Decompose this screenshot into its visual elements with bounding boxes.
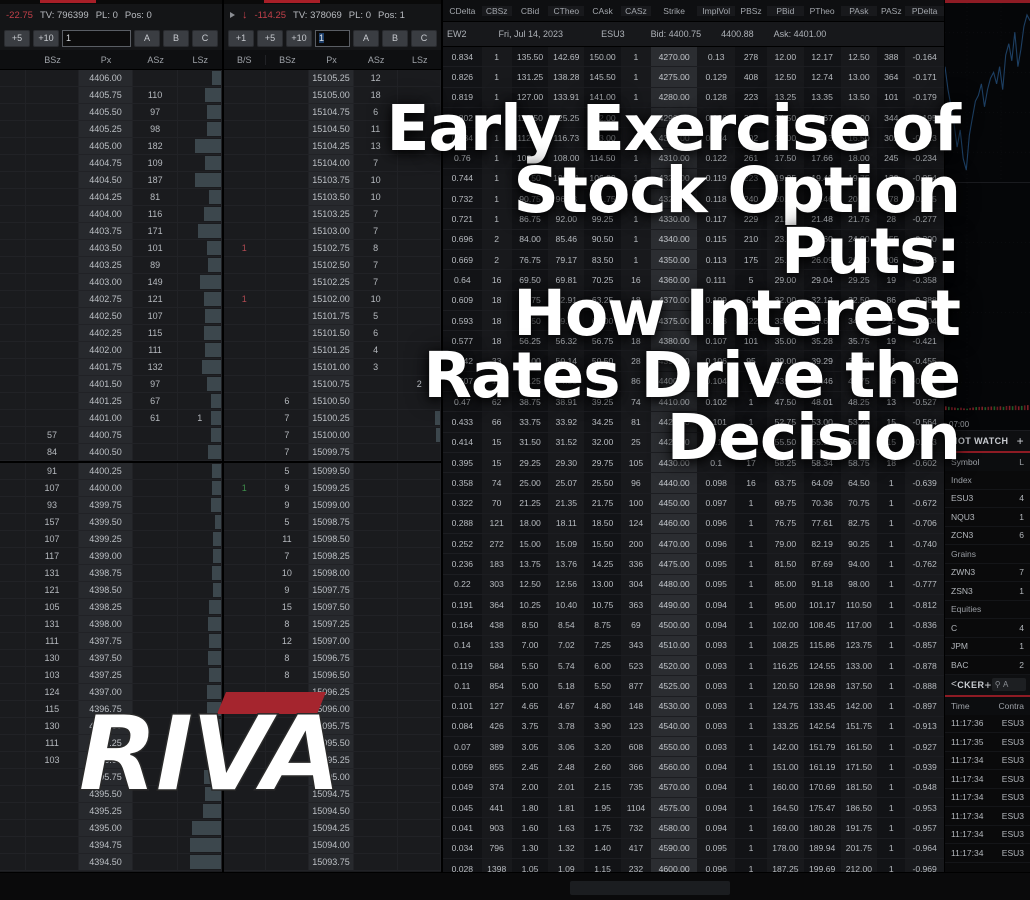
- ladder2-row[interactable]: 15102.507: [224, 257, 441, 274]
- chain-cell-ctheo[interactable]: 12.56: [548, 575, 584, 594]
- ladder1-cell-px[interactable]: 4404.00: [79, 206, 133, 222]
- ladder1-cell-gutter[interactable]: [0, 616, 26, 632]
- ladder1-cell-gutter[interactable]: [0, 342, 26, 358]
- chain-cell-pbsz[interactable]: 1: [735, 737, 767, 756]
- chain-cell-pdelta[interactable]: -0.254: [905, 169, 944, 188]
- chain-cell-ptheo[interactable]: 19.49: [804, 169, 841, 188]
- ladder1-row[interactable]: 4403.00149: [0, 274, 222, 291]
- chain-cell-ptheo[interactable]: 55.58: [804, 433, 841, 452]
- ladder1-row[interactable]: 4405.5097: [0, 104, 222, 121]
- ladder2-cell-lsz[interactable]: [398, 769, 441, 785]
- chain-row[interactable]: 0.073893.053.063.206084550.000.0931142.0…: [443, 737, 944, 757]
- chain-cell-implvol[interactable]: 0.093: [697, 636, 735, 655]
- ladder2-cell-lsz[interactable]: [398, 172, 441, 188]
- chain-cell-cdelta[interactable]: 0.119: [443, 656, 482, 675]
- ladder1-cell-asz[interactable]: [133, 444, 179, 460]
- ladder2-cell-bs[interactable]: [224, 104, 266, 120]
- ladder2-cell-bs[interactable]: [224, 138, 266, 154]
- ladder2-cell-lsz[interactable]: [398, 291, 441, 307]
- chain-cell-cbid[interactable]: 118.50: [512, 108, 549, 127]
- chain-cell-cask[interactable]: 29.75: [584, 453, 621, 472]
- ladder2-header-lsz[interactable]: LSz: [398, 55, 441, 65]
- chain-cell-cbsz[interactable]: 1: [482, 88, 512, 107]
- chain-cell-implvol[interactable]: 0.096: [697, 534, 735, 553]
- chain-cell-pask[interactable]: 70.75: [841, 494, 878, 513]
- ladder1-header-bsz[interactable]: BSz: [26, 55, 80, 65]
- ladder1-cell-gutter[interactable]: [0, 718, 26, 734]
- time-sales-row[interactable]: 11:17:36ESU3: [945, 715, 1030, 734]
- chain-cell-pbsz[interactable]: 408: [735, 67, 767, 86]
- chain-cell-cask[interactable]: 56.75: [584, 331, 621, 350]
- ladder2-cell-px[interactable]: 15095.00: [309, 769, 354, 785]
- ladder2-cell-px[interactable]: 15095.50: [309, 735, 354, 751]
- chain-cell-pdelta[interactable]: -0.491: [905, 372, 944, 391]
- chain-cell-pasz[interactable]: 1: [877, 595, 905, 614]
- chain-cell-pdelta[interactable]: -0.583: [905, 433, 944, 452]
- chain-header-cdelta[interactable]: CDelta: [443, 6, 482, 16]
- ladder1-cell-gutter[interactable]: [0, 70, 26, 86]
- chain-cell-strike[interactable]: 4570.00: [651, 778, 697, 797]
- chain-cell-pasz[interactable]: 86: [877, 291, 905, 310]
- chain-cell-strike[interactable]: 4360.00: [651, 270, 697, 289]
- ladder2-row[interactable]: 715100.00: [224, 427, 441, 444]
- chain-cell-pdelta[interactable]: -0.888: [905, 676, 944, 695]
- ladder1-cell-lsz[interactable]: [178, 803, 222, 819]
- ladder1-cell-gutter[interactable]: [0, 223, 26, 239]
- ladder2-cell-bs[interactable]: 1: [224, 240, 266, 256]
- ladder1-row[interactable]: 4395.25: [0, 803, 222, 820]
- ladder1-cell-px[interactable]: 4395.50: [79, 786, 133, 802]
- chain-cell-implvol[interactable]: 0.1: [697, 453, 735, 472]
- ladder1-cell-px[interactable]: 4402.00: [79, 342, 133, 358]
- chain-cell-casz[interactable]: 69: [621, 615, 651, 634]
- ladder2-cell-bs[interactable]: [224, 786, 266, 802]
- chain-cell-implvol[interactable]: 0.1: [697, 433, 735, 452]
- ladder2-row[interactable]: 1515097.50: [224, 599, 441, 616]
- ladder1-cell-bsz[interactable]: 105: [26, 599, 80, 615]
- ladder2-row[interactable]: 115102.758: [224, 240, 441, 257]
- chain-row[interactable]: 0.28812118.0018.1118.501244460.000.09617…: [443, 514, 944, 534]
- ladder1-cell-asz[interactable]: 132: [133, 359, 179, 375]
- chain-row[interactable]: 0.3227021.2521.3521.751004450.000.097169…: [443, 494, 944, 514]
- ladder1-cell-asz[interactable]: [133, 684, 179, 700]
- ladder2-cell-px[interactable]: 15100.25: [309, 410, 354, 426]
- ladder1-cell-gutter[interactable]: [0, 803, 26, 819]
- chain-cell-pasz[interactable]: 1: [877, 615, 905, 634]
- chain-cell-strike[interactable]: 4580.00: [651, 818, 697, 837]
- chain-cell-cask[interactable]: 99.25: [584, 209, 621, 228]
- chain-cell-casz[interactable]: 1: [621, 189, 651, 208]
- chain-cell-cask[interactable]: 150.00: [584, 47, 621, 66]
- ladder1-row[interactable]: 4404.75109: [0, 155, 222, 172]
- chain-cell-cdelta[interactable]: 0.819: [443, 88, 482, 107]
- ladder2-cell-px[interactable]: 15098.00: [309, 565, 354, 581]
- chain-cell-pdelta[interactable]: -0.897: [905, 697, 944, 716]
- ladder2-cell-bsz[interactable]: [266, 172, 310, 188]
- ladder2-cell-px[interactable]: 15101.75: [309, 308, 354, 324]
- chain-cell-cdelta[interactable]: 0.059: [443, 757, 482, 776]
- chain-cell-pask[interactable]: 137.50: [841, 676, 878, 695]
- chain-cell-ptheo[interactable]: 23.60: [804, 230, 841, 249]
- chain-cell-cdelta[interactable]: 0.084: [443, 717, 482, 736]
- chain-cell-implvol[interactable]: 0.097: [697, 494, 735, 513]
- ladder1-cell-px[interactable]: 4400.00: [79, 480, 133, 496]
- chain-cell-pasz[interactable]: 155: [877, 230, 905, 249]
- chain-row[interactable]: 0.8261131.25138.28145.5014275.000.129408…: [443, 67, 944, 87]
- chain-cell-cask[interactable]: 13.00: [584, 575, 621, 594]
- chain-cell-ctheo[interactable]: 25.07: [548, 473, 584, 492]
- chain-cell-cbsz[interactable]: 854: [482, 676, 512, 695]
- ladder2-cell-lsz[interactable]: [398, 104, 441, 120]
- ladder1-row[interactable]: 1074400.00: [0, 480, 222, 497]
- ladder2-cell-lsz[interactable]: [398, 480, 441, 496]
- ladder1-cell-lsz[interactable]: [178, 854, 222, 870]
- ladder1-cell-bsz[interactable]: [26, 104, 80, 120]
- chain-row[interactable]: 0.4141531.5031.5232.00254425.000.1155.50…: [443, 433, 944, 453]
- ladder2-cell-bs[interactable]: [224, 718, 266, 734]
- chain-cell-pbid[interactable]: 178.00: [767, 839, 804, 858]
- chain-cell-pask[interactable]: 35.75: [841, 331, 878, 350]
- chain-cell-pbid[interactable]: 151.00: [767, 757, 804, 776]
- chain-cell-pdelta[interactable]: -0.358: [905, 270, 944, 289]
- ladder2-row[interactable]: 15094.25: [224, 820, 441, 837]
- chain-cell-cbid[interactable]: 86.75: [512, 209, 549, 228]
- ladder1-cell-asz[interactable]: [133, 718, 179, 734]
- chain-cell-pasz[interactable]: 12: [877, 311, 905, 330]
- ladder2-cell-asz[interactable]: 10: [354, 189, 399, 205]
- chain-cell-cbsz[interactable]: 1: [482, 67, 512, 86]
- chain-cell-implvol[interactable]: 0.108: [697, 311, 735, 330]
- chain-cell-ptheo[interactable]: 53.00: [804, 412, 841, 431]
- chain-cell-casz[interactable]: 1: [621, 47, 651, 66]
- ladder2-cell-bs[interactable]: 1: [224, 291, 266, 307]
- ladder2-row[interactable]: 15101.506: [224, 325, 441, 342]
- ladder1-cell-px[interactable]: 4395.00: [79, 820, 133, 836]
- ladder2-row[interactable]: 715099.75: [224, 444, 441, 461]
- chain-cell-pasz[interactable]: 1: [877, 798, 905, 817]
- ladder2-row[interactable]: 15102.257: [224, 274, 441, 291]
- ladder1-cell-px[interactable]: 4397.25: [79, 667, 133, 683]
- chain-cell-pask[interactable]: 12.50: [841, 47, 878, 66]
- chain-cell-cdelta[interactable]: 0.358: [443, 473, 482, 492]
- ladder2-cell-px[interactable]: 15096.00: [309, 701, 354, 717]
- chain-cell-ctheo[interactable]: 62.91: [548, 291, 584, 310]
- chain-cell-implvol[interactable]: 0.119: [697, 169, 735, 188]
- ladder2-cell-lsz[interactable]: [398, 342, 441, 358]
- ladder1-cell-asz[interactable]: 101: [133, 240, 179, 256]
- chain-cell-cbsz[interactable]: 17: [482, 372, 512, 391]
- ladder2-cell-bs[interactable]: [224, 820, 266, 836]
- chain-cell-pbid[interactable]: 160.00: [767, 778, 804, 797]
- ladder2-cell-asz[interactable]: 12: [354, 70, 399, 86]
- chain-cell-implvol[interactable]: 0.128: [697, 88, 735, 107]
- chain-cell-cdelta[interactable]: 0.414: [443, 433, 482, 452]
- chain-cell-cbid[interactable]: 12.50: [512, 575, 549, 594]
- chain-cell-pbsz[interactable]: 1: [735, 392, 767, 411]
- chain-cell-pbsz[interactable]: 1: [735, 839, 767, 858]
- ladder1-cell-px[interactable]: 4399.75: [79, 497, 133, 513]
- chain-cell-implvol[interactable]: 0.102: [697, 392, 735, 411]
- watch-group-row[interactable]: Index: [945, 471, 1030, 490]
- ladder2-cell-px[interactable]: 15096.50: [309, 667, 354, 683]
- ladder1-cell-lsz[interactable]: 1: [178, 410, 222, 426]
- chain-cell-pask[interactable]: 201.75: [841, 839, 878, 858]
- chain-cell-cbsz[interactable]: 1: [482, 128, 512, 147]
- chain-cell-casz[interactable]: 417: [621, 839, 651, 858]
- ladder1-cell-gutter[interactable]: [0, 291, 26, 307]
- chain-cell-pbsz[interactable]: 5: [735, 270, 767, 289]
- chain-row[interactable]: 0.4336633.7533.9234.25814420.000.101152.…: [443, 412, 944, 432]
- chain-cell-pasz[interactable]: 122: [877, 169, 905, 188]
- ladder1-row[interactable]: 1244397.00: [0, 684, 222, 701]
- ladder1-cell-bsz[interactable]: [26, 206, 80, 222]
- chain-cell-pask[interactable]: 110.50: [841, 595, 878, 614]
- chain-cell-cdelta[interactable]: 0.732: [443, 189, 482, 208]
- ladder1-cell-px[interactable]: 4403.25: [79, 257, 133, 273]
- chain-cell-pbsz[interactable]: 223: [735, 169, 767, 188]
- chain-cell-pasz[interactable]: 1: [877, 554, 905, 573]
- chain-cell-casz[interactable]: 25: [621, 433, 651, 452]
- chain-cell-cbsz[interactable]: 1: [482, 209, 512, 228]
- chain-cell-pasz[interactable]: 1: [877, 697, 905, 716]
- ladder1-row[interactable]: 1114397.75: [0, 633, 222, 650]
- ladder2-row[interactable]: 515098.75: [224, 514, 441, 531]
- ladder1-cell-bsz[interactable]: 130: [26, 718, 80, 734]
- chain-cell-ptheo[interactable]: 108.45: [804, 615, 841, 634]
- chain-row[interactable]: 0.0419031.601.631.757324580.000.0941169.…: [443, 818, 944, 838]
- ladder2-cell-bsz[interactable]: [266, 291, 310, 307]
- ladder1-row[interactable]: 1314398.75: [0, 565, 222, 582]
- ladder1-cell-bsz[interactable]: [26, 70, 80, 86]
- ladder1-row[interactable]: 844400.50: [0, 444, 222, 461]
- chain-cell-pask[interactable]: 24.00: [841, 230, 878, 249]
- ladder2-cell-asz[interactable]: 7: [354, 206, 399, 222]
- ladder2-cell-bsz[interactable]: [266, 701, 310, 717]
- ladder2-cell-bs[interactable]: [224, 616, 266, 632]
- chain-cell-pasz[interactable]: 364: [877, 67, 905, 86]
- ladder1-cell-asz[interactable]: [133, 633, 179, 649]
- ladder2-cell-asz[interactable]: 10: [354, 291, 399, 307]
- chain-cell-pdelta[interactable]: -0.388: [905, 291, 944, 310]
- chain-cell-strike[interactable]: 4390.00: [651, 351, 697, 370]
- chain-cell-strike[interactable]: 4480.00: [651, 575, 697, 594]
- chain-cell-pbid[interactable]: 120.50: [767, 676, 804, 695]
- chain-cell-cbid[interactable]: 131.25: [512, 67, 549, 86]
- chain-cell-ctheo[interactable]: 56.32: [548, 331, 584, 350]
- chain-cell-pasz[interactable]: 1: [877, 494, 905, 513]
- chain-row[interactable]: 0.1011274.654.674.801484530.000.0931124.…: [443, 697, 944, 717]
- chain-cell-strike[interactable]: 4475.00: [651, 554, 697, 573]
- ladder2-cell-lsz[interactable]: [398, 786, 441, 802]
- time-sales-row[interactable]: 11:17:34ESU3: [945, 789, 1030, 808]
- ladder1-cell-lsz[interactable]: [178, 325, 222, 341]
- ladder1-cell-gutter[interactable]: [0, 514, 26, 530]
- ladder2-cell-lsz[interactable]: [398, 565, 441, 581]
- chain-cell-pbid[interactable]: 124.75: [767, 697, 804, 716]
- ladder1-cell-lsz[interactable]: [178, 104, 222, 120]
- ladder1-cell-asz[interactable]: 81: [133, 189, 179, 205]
- chain-cell-casz[interactable]: 200: [621, 534, 651, 553]
- chain-cell-cbid[interactable]: 5.50: [512, 656, 549, 675]
- ladder1-row[interactable]: 1114396.25: [0, 735, 222, 752]
- chain-cell-cbsz[interactable]: 374: [482, 778, 512, 797]
- watch-symbol-row[interactable]: JPM1: [945, 638, 1030, 657]
- ladder1-cell-gutter[interactable]: [0, 480, 26, 496]
- chain-cell-strike[interactable]: 4540.00: [651, 717, 697, 736]
- chain-header-cbsz[interactable]: CBSz: [482, 6, 512, 16]
- chain-cell-ctheo[interactable]: 18.11: [548, 514, 584, 533]
- chain-cell-pdelta[interactable]: -0.878: [905, 656, 944, 675]
- chain-cell-ctheo[interactable]: 69.81: [548, 270, 584, 289]
- chain-cell-cdelta[interactable]: 0.11: [443, 676, 482, 695]
- chain-cell-pasz[interactable]: 344: [877, 108, 905, 127]
- chain-cell-pasz[interactable]: 101: [877, 88, 905, 107]
- ladder2-cell-asz[interactable]: [354, 769, 399, 785]
- chain-cell-casz[interactable]: 74: [621, 392, 651, 411]
- chain-cell-cbid[interactable]: 102.50: [512, 148, 549, 167]
- ladder2-row[interactable]: 815096.50: [224, 667, 441, 684]
- chain-header-pask[interactable]: PAsk: [841, 6, 878, 16]
- ladder1-cell-gutter[interactable]: [0, 599, 26, 615]
- chain-cell-cbid[interactable]: 4.65: [512, 697, 549, 716]
- chain-cell-pasz[interactable]: 15: [877, 412, 905, 431]
- ladder1-cell-asz[interactable]: [133, 427, 179, 443]
- chain-cell-ptheo[interactable]: 82.19: [804, 534, 841, 553]
- chain-cell-cbid[interactable]: 84.00: [512, 230, 549, 249]
- ladder1-cell-asz[interactable]: [133, 514, 179, 530]
- ladder2-cell-asz[interactable]: [354, 463, 399, 479]
- chain-cell-ctheo[interactable]: 10.40: [548, 595, 584, 614]
- ladder1-cell-px[interactable]: 4399.50: [79, 514, 133, 530]
- ladder1-preset-b-button[interactable]: B: [163, 30, 189, 47]
- chain-cell-pbid[interactable]: 52.75: [767, 412, 804, 431]
- ladder2-cell-bsz[interactable]: [266, 837, 310, 853]
- chain-cell-pbid[interactable]: 19.25: [767, 169, 804, 188]
- chain-cell-pbsz[interactable]: 1: [735, 494, 767, 513]
- ladder1-rows[interactable]: 4406.004405.751104405.50974405.25984405.…: [0, 70, 222, 872]
- ladder1-cell-bsz[interactable]: [26, 342, 80, 358]
- chain-cell-pdelta[interactable]: -0.953: [905, 798, 944, 817]
- ladder2-cell-px[interactable]: 15096.75: [309, 650, 354, 666]
- ladder2-cell-bsz[interactable]: 9: [266, 582, 310, 598]
- chain-cell-cbsz[interactable]: 70: [482, 494, 512, 513]
- chain-cell-pasz[interactable]: 302: [877, 128, 905, 147]
- ladder2-cell-asz[interactable]: [354, 410, 399, 426]
- chain-cell-cask[interactable]: 21.75: [584, 494, 621, 513]
- ladder1-cell-gutter[interactable]: [0, 548, 26, 564]
- chain-cell-pask[interactable]: 98.00: [841, 575, 878, 594]
- chain-cell-pask[interactable]: 43.75: [841, 372, 878, 391]
- chain-cell-pbsz[interactable]: 302: [735, 128, 767, 147]
- ladder1-header-lsz[interactable]: LSz: [178, 55, 222, 65]
- chain-cell-implvol[interactable]: 0.124: [697, 128, 735, 147]
- ladder1-cell-gutter[interactable]: [0, 274, 26, 290]
- chain-cell-pdelta[interactable]: -0.836: [905, 615, 944, 634]
- watch-symbol-row[interactable]: ZCN36: [945, 527, 1030, 546]
- chain-cell-cbsz[interactable]: 16: [482, 270, 512, 289]
- ladder1-cell-lsz[interactable]: [178, 718, 222, 734]
- chain-cell-cdelta[interactable]: 0.07: [443, 737, 482, 756]
- ladder1-cell-bsz[interactable]: [26, 376, 80, 392]
- chain-cell-pask[interactable]: 34.00: [841, 311, 878, 330]
- ladder1-cell-lsz[interactable]: [178, 444, 222, 460]
- chain-cell-pbid[interactable]: 13.25: [767, 88, 804, 107]
- chain-cell-ctheo[interactable]: 125.25: [548, 108, 584, 127]
- ladder1-row[interactable]: 1174399.00: [0, 548, 222, 565]
- chain-cell-strike[interactable]: 4520.00: [651, 656, 697, 675]
- chain-row[interactable]: 0.5931859.5059.5760.00184375.000.1081223…: [443, 311, 944, 331]
- chain-cell-cbsz[interactable]: 18: [482, 291, 512, 310]
- ladder2-cell-bsz[interactable]: [266, 138, 310, 154]
- ladder1-cell-asz[interactable]: [133, 837, 179, 853]
- chain-cell-ptheo[interactable]: 16.13: [804, 128, 841, 147]
- chain-cell-cbid[interactable]: 2.00: [512, 778, 549, 797]
- ladder1-row[interactable]: 1034396.00: [0, 752, 222, 769]
- ladder1-cell-gutter[interactable]: [0, 531, 26, 547]
- chain-cell-ptheo[interactable]: 161.19: [804, 757, 841, 776]
- chain-cell-cask[interactable]: 44.75: [584, 372, 621, 391]
- ladder2-cell-asz[interactable]: [354, 616, 399, 632]
- ladder1-row[interactable]: 934399.75: [0, 497, 222, 514]
- ladder1-cell-lsz[interactable]: [178, 667, 222, 683]
- ladder1-cell-lsz[interactable]: [178, 616, 222, 632]
- ladder1-cell-gutter[interactable]: [0, 206, 26, 222]
- chain-cell-casz[interactable]: 1: [621, 148, 651, 167]
- chain-cell-casz[interactable]: 96: [621, 473, 651, 492]
- ladder2-row[interactable]: 815096.75: [224, 650, 441, 667]
- ladder1-cell-gutter[interactable]: [0, 87, 26, 103]
- chain-cell-pdelta[interactable]: -0.455: [905, 351, 944, 370]
- chain-cell-cask[interactable]: 3.90: [584, 717, 621, 736]
- price-chart-upper[interactable]: [945, 3, 1030, 183]
- ladder1-row[interactable]: 1054398.25: [0, 599, 222, 616]
- chain-cell-pbid[interactable]: 23.25: [767, 230, 804, 249]
- chain-cell-cbid[interactable]: 8.50: [512, 615, 549, 634]
- ladder2-cell-lsz[interactable]: [398, 206, 441, 222]
- hot-watch-rows[interactable]: IndexESU34NQU31ZCN36GrainsZWN37ZSN31Equi…: [945, 471, 1030, 675]
- chain-cell-casz[interactable]: 124: [621, 514, 651, 533]
- chain-cell-pasz[interactable]: 206: [877, 250, 905, 269]
- ladder1-row[interactable]: 4394.50: [0, 854, 222, 871]
- chain-row[interactable]: 0.23618313.7513.7614.253364475.000.09518…: [443, 554, 944, 574]
- ladder1-cell-lsz[interactable]: [178, 87, 222, 103]
- ladder1-cell-bsz[interactable]: [26, 257, 80, 273]
- chain-cell-cdelta[interactable]: 0.041: [443, 818, 482, 837]
- ladder1-preset-c-button[interactable]: C: [192, 30, 218, 47]
- ladder2-cell-asz[interactable]: [354, 565, 399, 581]
- ladder2-cell-px[interactable]: 15096.25: [309, 684, 354, 700]
- ladder1-row[interactable]: 4394.75: [0, 837, 222, 854]
- ladder1-cell-asz[interactable]: 98: [133, 121, 179, 137]
- chain-cell-cbsz[interactable]: 389: [482, 737, 512, 756]
- chain-cell-pbid[interactable]: 81.50: [767, 554, 804, 573]
- chain-cell-ptheo[interactable]: 32.12: [804, 291, 841, 310]
- chain-cell-pbid[interactable]: 55.50: [767, 433, 804, 452]
- chain-cell-ctheo[interactable]: 50.14: [548, 351, 584, 370]
- chain-cell-pbid[interactable]: 12.00: [767, 47, 804, 66]
- ladder1-cell-px[interactable]: 4404.25: [79, 189, 133, 205]
- ladder2-cell-bsz[interactable]: [266, 718, 310, 734]
- chain-cell-cbid[interactable]: 3.05: [512, 737, 549, 756]
- chain-cell-pbid[interactable]: 116.25: [767, 656, 804, 675]
- ladder2-cell-bs[interactable]: [224, 155, 266, 171]
- add-watch-icon[interactable]: +: [1017, 435, 1024, 447]
- option-chain-rows[interactable]: 0.8341135.50142.69150.0014270.000.132781…: [443, 47, 944, 872]
- chain-cell-pask[interactable]: 58.75: [841, 453, 878, 472]
- ladder1-cell-gutter[interactable]: [0, 393, 26, 409]
- chain-row[interactable]: 0.5423350.0050.1450.50284390.000.1069539…: [443, 351, 944, 371]
- ladder2-cell-lsz[interactable]: [398, 410, 441, 426]
